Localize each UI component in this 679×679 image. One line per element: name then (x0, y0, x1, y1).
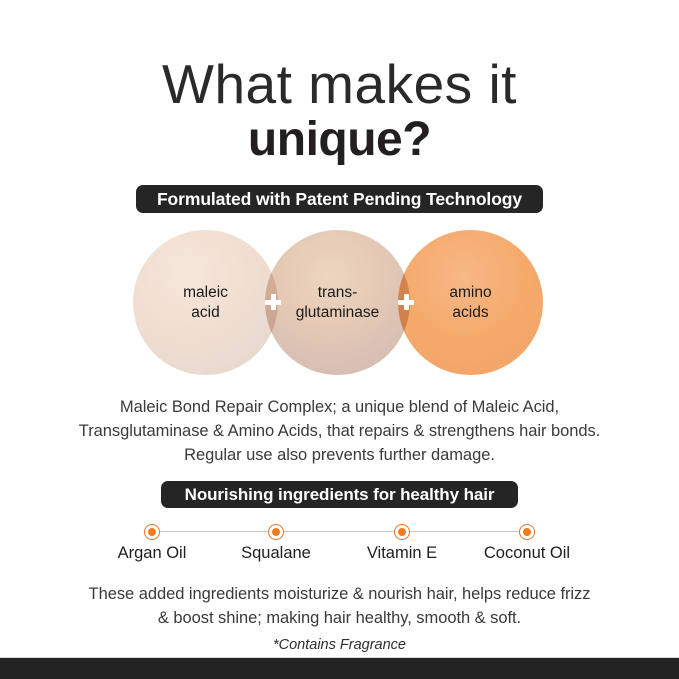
ingredient-dot-icon (519, 524, 535, 540)
ingredient-dot-icon (394, 524, 410, 540)
ingredient-dot-icon (268, 524, 284, 540)
ingredient-timeline: Argan Oil Squalane Vitamin E Coconut Oil (0, 518, 679, 573)
venn-circle-transglutaminase (265, 230, 410, 375)
bottom-bar (0, 657, 679, 679)
paragraph-bond-repair-complex: Maleic Bond Repair Complex; a unique ble… (0, 395, 679, 467)
venn-circle-maleic-acid (133, 230, 278, 375)
page-title-line-2: unique? (0, 114, 679, 166)
banner-patent-pending: Formulated with Patent Pending Technolog… (136, 185, 543, 213)
page-title: What makes it unique? (0, 56, 679, 166)
plus-icon-1 (265, 294, 281, 310)
paragraph-added-ingredients-line-1: These added ingredients moisturize & nou… (0, 582, 679, 606)
venn-diagram: maleic acid trans- glutaminase amino aci… (0, 228, 679, 388)
paragraph-added-ingredients-line-2: & boost shine; making hair healthy, smoo… (0, 606, 679, 630)
plus-icon-2 (398, 294, 414, 310)
ingredient-label-coconut-oil: Coconut Oil (442, 544, 612, 563)
paragraph-bond-repair-complex-line-1: Maleic Bond Repair Complex; a unique ble… (0, 395, 679, 419)
venn-circle-amino-acids (398, 230, 543, 375)
paragraph-added-ingredients: These added ingredients moisturize & nou… (0, 582, 679, 630)
timeline-connector-line (152, 531, 527, 532)
ingredient-dot-icon (144, 524, 160, 540)
page-title-line-1: What makes it (0, 56, 679, 112)
paragraph-bond-repair-complex-line-3: Regular use also prevents further damage… (0, 443, 679, 467)
footnote-contains-fragrance: *Contains Fragrance (0, 637, 679, 653)
paragraph-bond-repair-complex-line-2: Transglutaminase & Amino Acids, that rep… (0, 419, 679, 443)
banner-nourishing-ingredients: Nourishing ingredients for healthy hair (161, 481, 518, 508)
infographic-page: What makes it unique? Formulated with Pa… (0, 0, 679, 679)
